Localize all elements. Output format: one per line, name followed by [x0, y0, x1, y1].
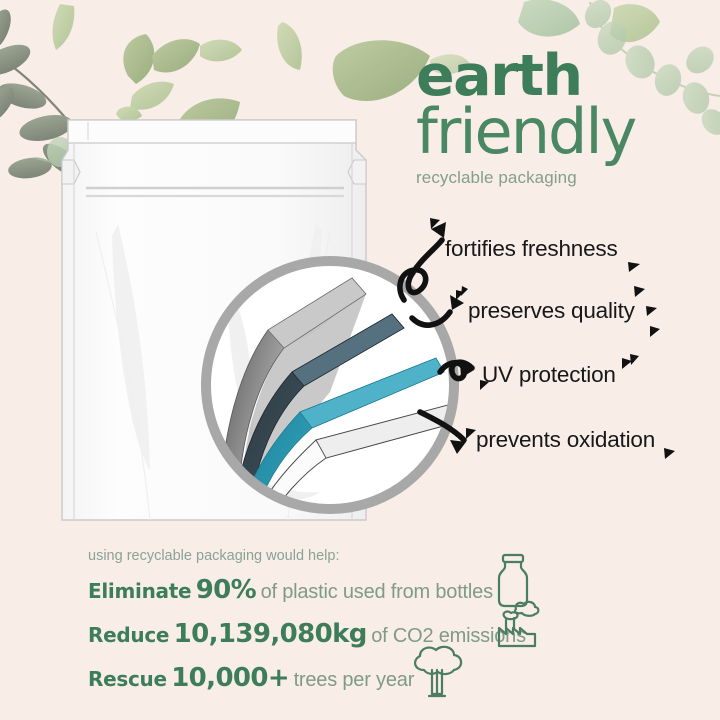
arrow-preserves-quality [412, 312, 450, 325]
headline-block: earth friendly recyclable packaging [416, 48, 706, 188]
factory-icon [492, 600, 542, 648]
feature-label-uv-protection: UV protection [482, 362, 616, 388]
feature-label-preserves-quality: preserves quality [468, 298, 635, 324]
arrow-prevents-oxidation [420, 412, 464, 440]
stat-verb: Eliminate [88, 579, 191, 603]
tree-icon [404, 644, 470, 700]
stat-tail: of plastic used from bottles [261, 581, 493, 603]
stat-row: Rescue 10,000+ trees per year [88, 665, 608, 691]
infographic-poster: earth friendly recyclable packaging fort… [0, 0, 720, 720]
stat-value: 10,000+ [171, 663, 289, 693]
stat-tail: trees per year [294, 669, 415, 691]
feature-label-fortifies-freshness: fortifies freshness [445, 236, 618, 262]
title-line-friendly: friendly [416, 100, 706, 164]
feature-label-prevents-oxidation: prevents oxidation [476, 427, 655, 453]
headline-subtitle: recyclable packaging [416, 168, 706, 188]
stat-value: 90% [196, 575, 256, 605]
arrow-fortifies-freshness [400, 240, 442, 300]
stat-verb: Reduce [88, 623, 169, 647]
stat-verb: Rescue [88, 667, 167, 691]
arrowhead-4 [450, 440, 466, 454]
stat-value: 10,139,080kg [174, 619, 367, 649]
